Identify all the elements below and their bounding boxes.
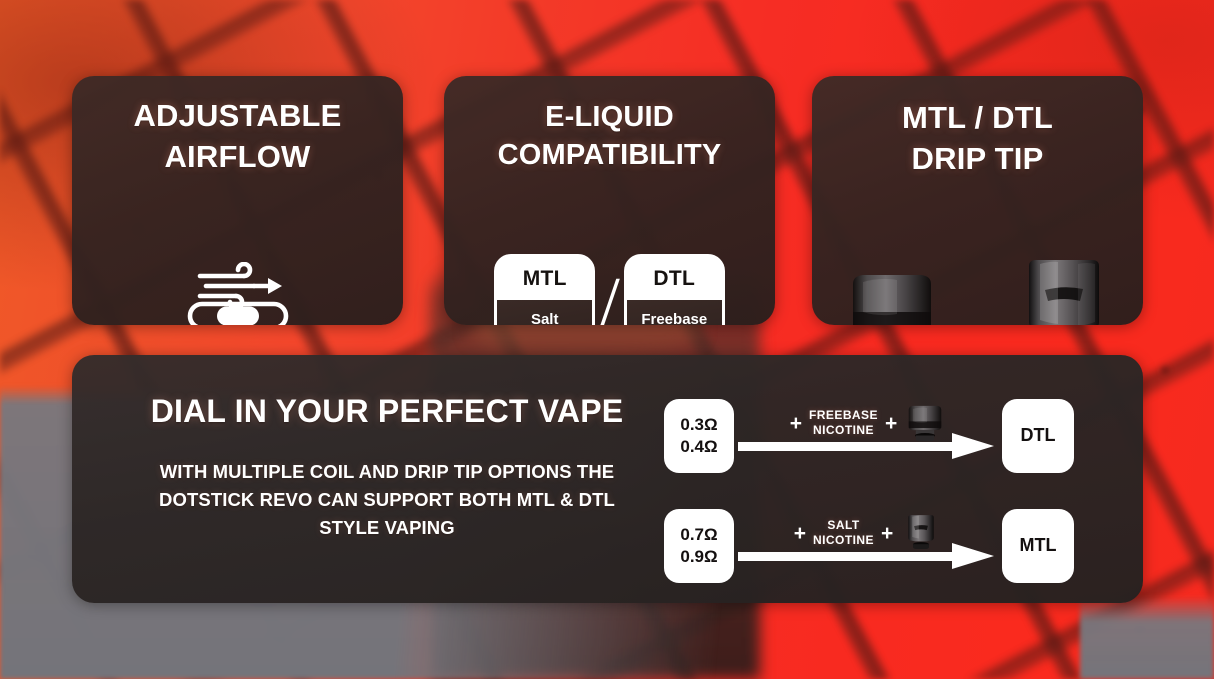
infographic-canvas: ADJUSTABLE AIRFLOW [0,0,1214,679]
compat-option-dtl[interactable]: DTL Freebase Nicotine [624,254,725,325]
panel-subtext-line1: WITH MULTIPLE COIL AND DRIP TIP OPTIONS … [160,461,614,482]
card-title-line1: E-LIQUID [545,101,674,133]
airflow-icon-wrap [72,262,403,325]
panel-text-block: DIAL IN YOUR PERFECT VAPE WITH MULTIPLE … [102,393,672,541]
flow-middle-mtl: + SALT NICOTINE + [734,509,1002,583]
card-e-liquid-compatibility: E-LIQUID COMPATIBILITY MTL Salt Nicotine… [444,76,775,325]
result-chip-mtl[interactable]: MTL [1002,509,1074,583]
panel-subtext-line3: STYLE VAPING [319,517,455,538]
result-chip-mtl-label: MTL [1020,534,1057,558]
flow-row-dtl: 0.3Ω 0.4Ω + FREEBASE NICOTINE + [664,399,1074,473]
nicotine-label-dtl-line1: FREEBASE [809,408,878,422]
airflow-slider-icon [184,262,292,325]
coil-chip-dtl-line2: 0.4Ω [680,436,717,458]
plus-icon-left-dtl: + [790,413,802,434]
compat-dtl-nicotine-line1: Freebase [641,311,707,325]
card-title-line2: AIRFLOW [164,139,310,174]
compat-option-mtl[interactable]: MTL Salt Nicotine [494,254,595,325]
panel-dial-in-your-perfect-vape: DIAL IN YOUR PERFECT VAPE WITH MULTIPLE … [72,355,1143,603]
compat-option-dtl-nicotine: Freebase Nicotine [627,300,722,325]
round-drip-tip-icon [843,268,941,325]
plus-icon-right-dtl: + [885,413,897,434]
plus-icon-left-mtl: + [794,523,806,544]
background-surface-grey-right [1080,596,1214,679]
card-title-line2: DRIP TIP [912,141,1044,176]
card-mtl-dtl-drip-tip: MTL / DTL DRIP TIP [812,76,1143,325]
coil-chip-dtl-line1: 0.3Ω [680,414,717,436]
panel-subtext: WITH MULTIPLE COIL AND DRIP TIP OPTIONS … [102,458,672,541]
compat-mtl-nicotine-line1: Salt [531,311,559,325]
card-title-line2: COMPATIBILITY [498,139,722,171]
coil-chip-dtl[interactable]: 0.3Ω 0.4Ω [664,399,734,473]
compat-option-mtl-nicotine: Salt Nicotine [497,300,592,325]
card-title-adjustable-airflow: ADJUSTABLE AIRFLOW [72,76,403,178]
airflow-arrow-right [268,278,282,294]
compat-option-mtl-code: MTL [497,257,592,300]
compat-separator: / [599,267,620,326]
compat-option-dtl-code: DTL [627,257,722,300]
card-title-mtl-dtl-drip-tip: MTL / DTL DRIP TIP [812,76,1143,180]
flow-arrow-dtl [738,433,994,459]
drip-tips-row [812,254,1143,325]
flow-middle-dtl: + FREEBASE NICOTINE + [734,399,1002,473]
panel-subtext-line2: DOTSTICK REVO CAN SUPPORT BOTH MTL & DTL [159,489,615,510]
result-chip-dtl-label: DTL [1021,424,1056,448]
card-title-e-liquid-compatibility: E-LIQUID COMPATIBILITY [444,76,775,175]
card-title-line1: MTL / DTL [902,100,1053,135]
card-title-line1: ADJUSTABLE [133,98,341,133]
nicotine-label-mtl-line1: SALT [827,518,859,532]
flat-drip-tip-icon [1015,254,1113,325]
plus-icon-right-mtl: + [881,523,893,544]
panel-heading: DIAL IN YOUR PERFECT VAPE [102,393,672,430]
coil-chip-mtl[interactable]: 0.7Ω 0.9Ω [664,509,734,583]
coil-chip-mtl-line2: 0.9Ω [680,546,717,568]
compatibility-options-row: MTL Salt Nicotine / DTL Freebase Nicotin… [444,254,775,325]
result-chip-dtl[interactable]: DTL [1002,399,1074,473]
flow-row-mtl: 0.7Ω 0.9Ω + SALT NICOTINE + [664,509,1074,583]
flow-arrow-mtl [738,543,994,569]
coil-chip-mtl-line1: 0.7Ω [680,524,717,546]
airflow-slider-knob [217,307,259,326]
card-adjustable-airflow: ADJUSTABLE AIRFLOW [72,76,403,325]
